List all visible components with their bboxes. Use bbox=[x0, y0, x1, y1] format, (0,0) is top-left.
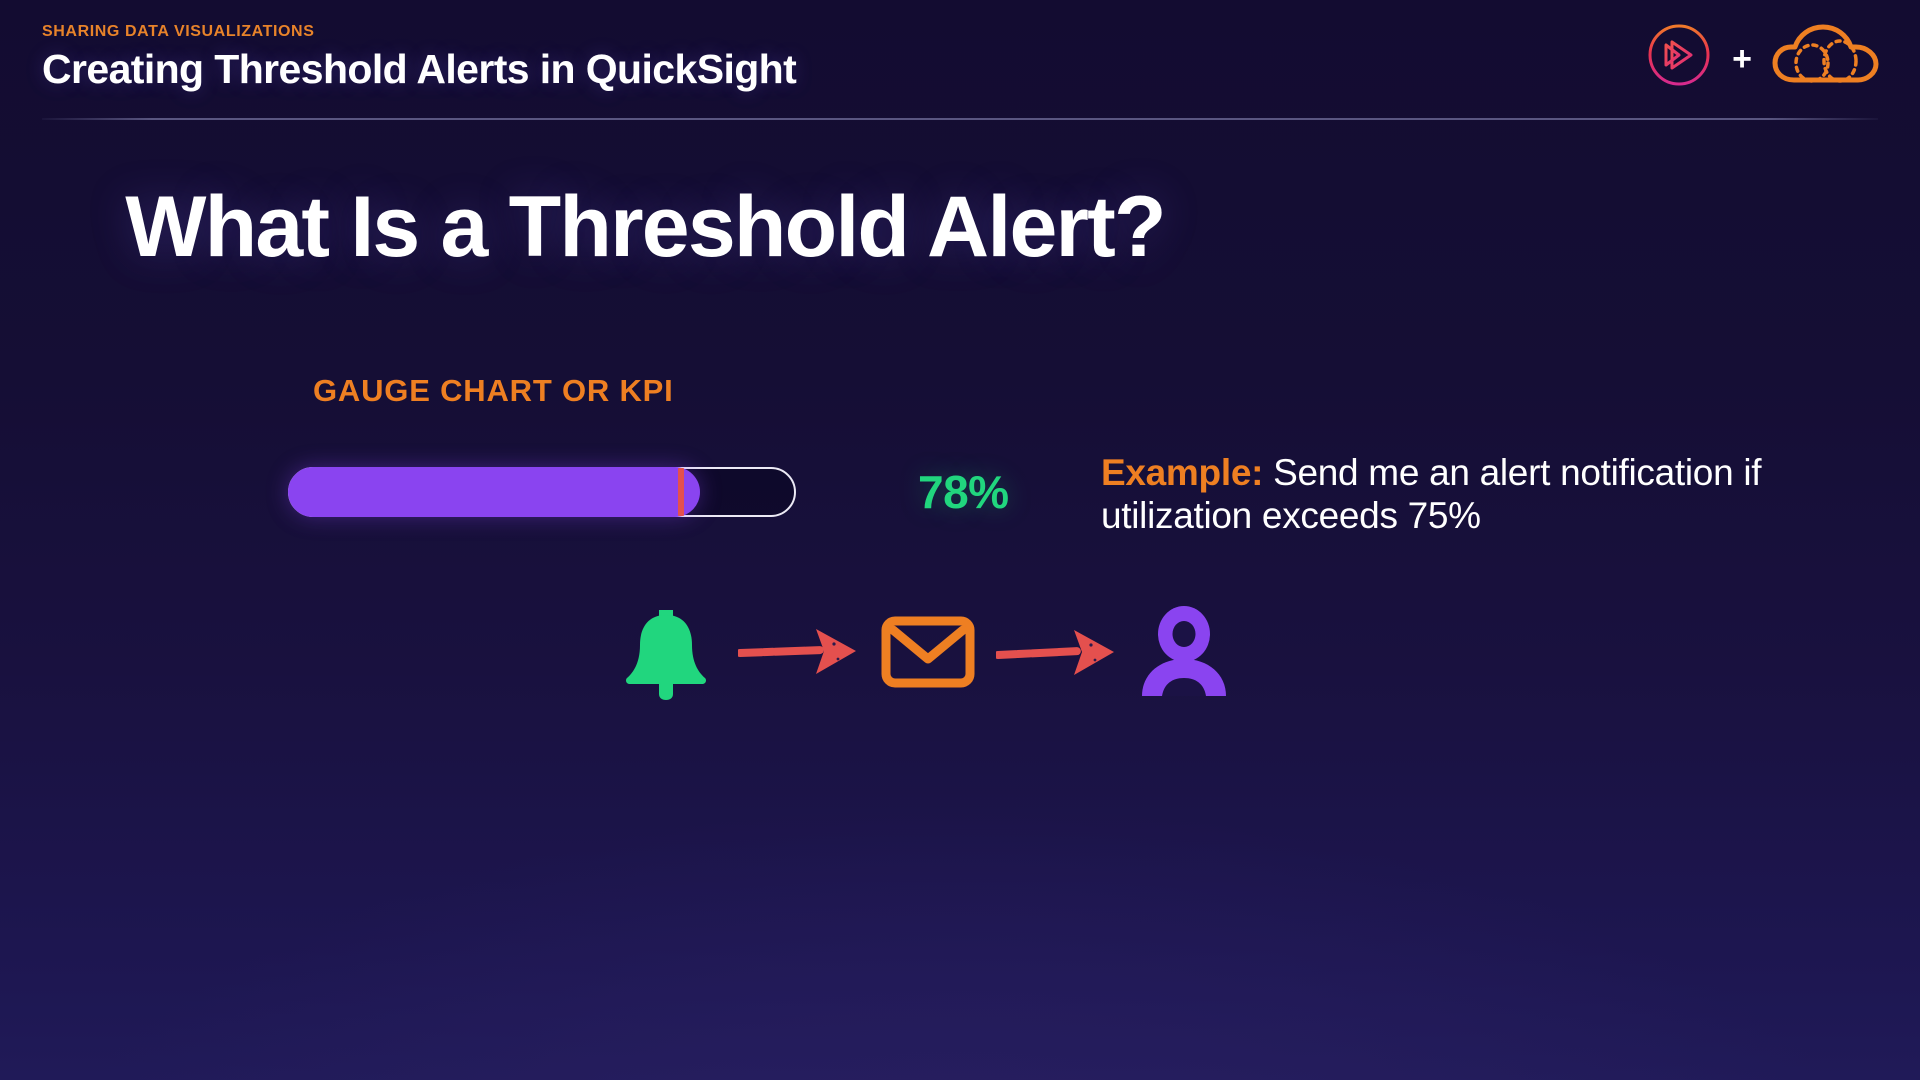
page-header: SHARING DATA VISUALIZATIONS Creating Thr… bbox=[0, 0, 1920, 120]
email-envelope bbox=[880, 609, 976, 700]
alert-flow-diagram bbox=[614, 600, 1230, 709]
logo-row: + bbox=[1646, 22, 1880, 93]
envelope-icon bbox=[880, 609, 976, 700]
alert-bell bbox=[614, 600, 718, 709]
arrow-right-icon bbox=[738, 624, 860, 685]
gauge-value-label: 78% bbox=[918, 465, 1009, 519]
example-label: Example: bbox=[1101, 452, 1263, 493]
example-callout: Example: Send me an alert notification i… bbox=[1101, 452, 1821, 538]
gauge-threshold-marker bbox=[678, 468, 684, 516]
cloud-logo bbox=[1772, 22, 1880, 93]
gauge-track bbox=[288, 467, 796, 517]
plus-symbol: + bbox=[1728, 42, 1756, 76]
gauge-chart: 78% bbox=[288, 465, 1009, 519]
bell-icon bbox=[614, 600, 718, 709]
slide-title: What Is a Threshold Alert? bbox=[0, 178, 1290, 277]
flow-arrow-2 bbox=[996, 624, 1118, 685]
header-kicker: SHARING DATA VISUALIZATIONS bbox=[42, 23, 315, 41]
flow-arrow-1 bbox=[738, 624, 860, 685]
arrow-right-icon bbox=[996, 624, 1118, 685]
gauge-section-label: GAUGE CHART OR KPI bbox=[313, 373, 674, 409]
header-title: Creating Threshold Alerts in QuickSight bbox=[42, 46, 796, 93]
header-divider bbox=[42, 118, 1878, 120]
recipient-user bbox=[1138, 604, 1230, 705]
user-icon bbox=[1138, 604, 1230, 705]
play-circle-logo bbox=[1646, 22, 1712, 93]
gauge-fill bbox=[288, 467, 700, 517]
